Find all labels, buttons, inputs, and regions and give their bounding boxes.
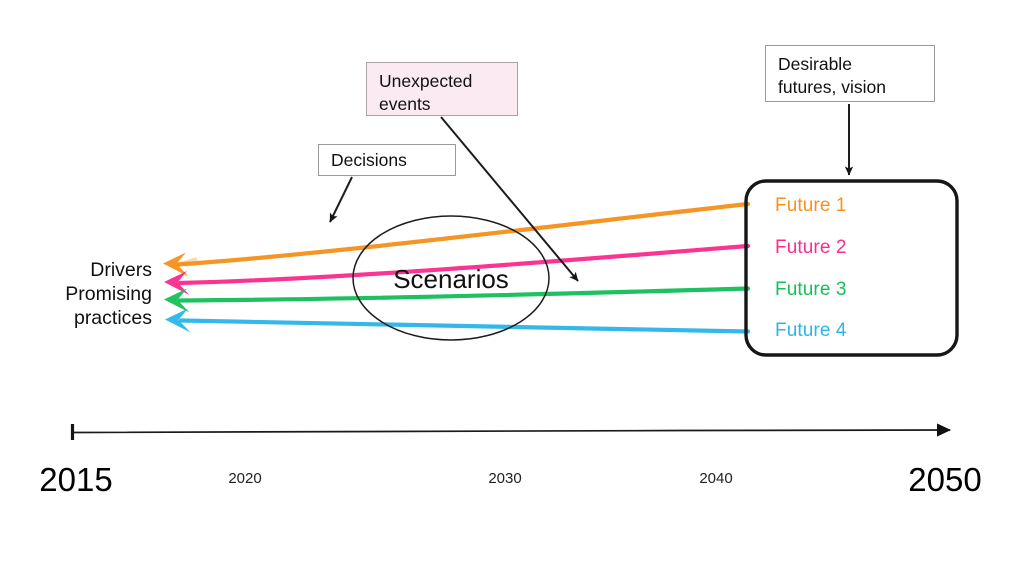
decisions-arrow [330,177,352,222]
diagram-canvas: Unexpected events Decisions Desirable fu… [0,0,1024,588]
drivers-line-1: Drivers [0,258,152,282]
timeline-tick-2040: 2040 [676,470,756,487]
timeline-end-label: 2050 [890,461,1000,499]
scenarios-label: Scenarios [356,264,546,295]
drivers-line-3: practices [0,306,152,330]
timeline-axis [73,424,951,440]
future-label-2[interactable]: Future 2 [775,237,847,259]
timeline-tick-2020: 2020 [205,470,285,487]
callout-desirable-futures[interactable]: Desirable futures, vision [765,45,935,102]
drivers-line-2: Promising [0,282,152,306]
timeline-tick-2030: 2030 [465,470,545,487]
unexpected-events-arrow [441,117,578,281]
timeline-start-label: 2015 [26,461,126,499]
callout-unexpected-events[interactable]: Unexpected events [366,62,518,116]
scenario-line-future-4 [165,309,748,333]
drivers-label-block: Drivers Promising practices [0,258,152,330]
future-label-4[interactable]: Future 4 [775,320,847,342]
callout-decisions[interactable]: Decisions [318,144,456,176]
future-label-3[interactable]: Future 3 [775,279,847,301]
future-label-1[interactable]: Future 1 [775,195,847,217]
